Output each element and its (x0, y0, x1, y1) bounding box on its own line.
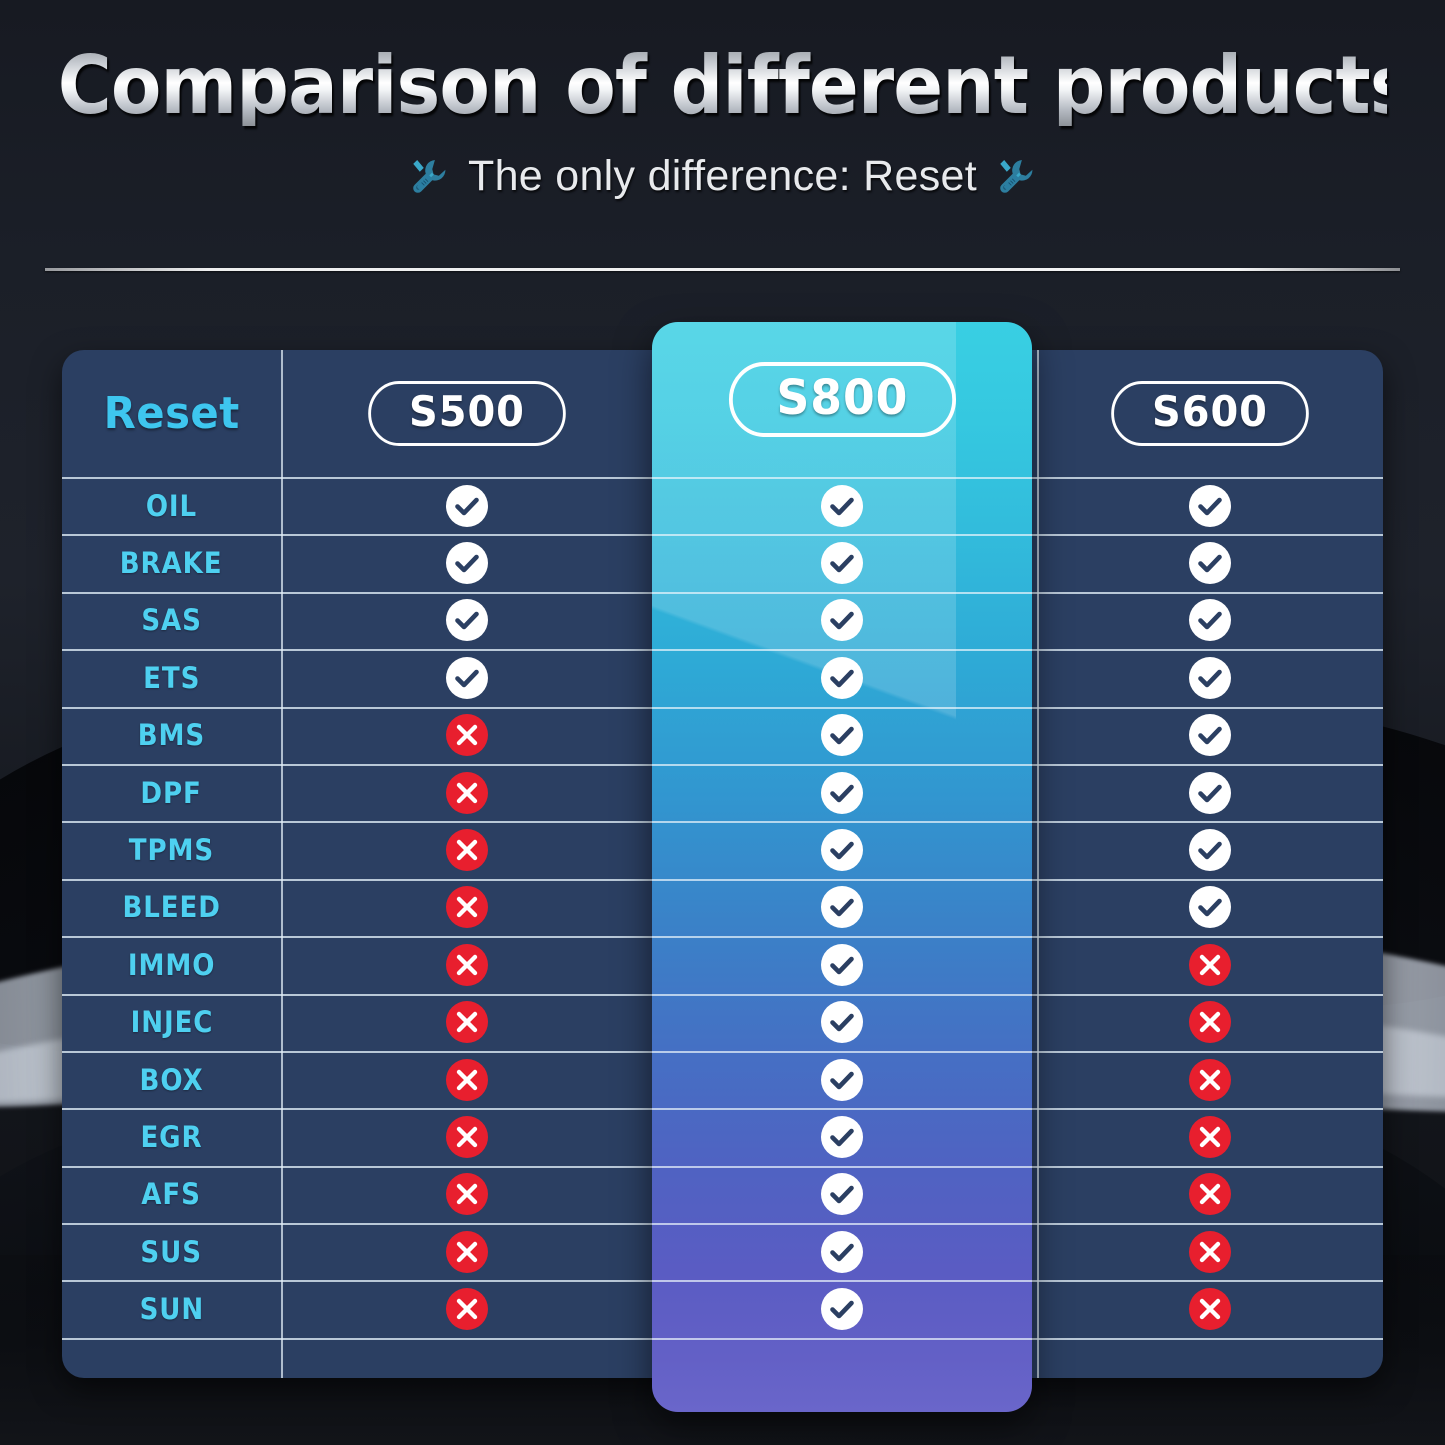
cell-s500-sun (281, 1280, 653, 1337)
table-row: BRAKE (62, 534, 281, 591)
row-label-sas: SAS (141, 603, 201, 637)
page-subtitle-text: The only difference: Reset (468, 152, 977, 201)
check-icon (820, 1230, 864, 1274)
cell-s500-injec (281, 994, 653, 1051)
reset-header-label: Reset (103, 388, 239, 439)
product-badge-s800: S800 (729, 362, 956, 437)
cell-s500-immo (281, 936, 653, 993)
table-row: AFS (62, 1166, 281, 1223)
check-icon (820, 541, 864, 585)
cell-s600-bleed (1037, 879, 1383, 936)
product-badge-s500: S500 (368, 381, 566, 446)
check-icon (820, 484, 864, 528)
header-divider (45, 268, 1400, 271)
cell-s500-oil (281, 477, 653, 534)
check-icon (1188, 656, 1232, 700)
cell-s600-sus (1037, 1223, 1383, 1280)
cell-s500-bms (281, 707, 653, 764)
highlight-footer-strip (652, 1338, 1032, 1412)
cell-s800-tpms (652, 821, 1032, 878)
cross-icon (1188, 1058, 1232, 1102)
row-label-sus: SUS (141, 1235, 202, 1269)
check-icon (1188, 484, 1232, 528)
cell-s500-afs (281, 1166, 653, 1223)
table-row: TPMS (62, 821, 281, 878)
cell-s500-ets (281, 649, 653, 706)
check-icon (820, 1287, 864, 1331)
check-icon (1188, 713, 1232, 757)
column-header-s500[interactable]: S500 (281, 350, 653, 477)
cell-s800-afs (652, 1166, 1032, 1223)
cell-s500-sus (281, 1223, 653, 1280)
cross-icon (445, 1287, 489, 1331)
row-label-bms: BMS (138, 718, 205, 752)
row-label-oil: OIL (146, 489, 197, 523)
table-row: BLEED (62, 879, 281, 936)
cell-s500-tpms (281, 821, 653, 878)
table-row: DPF (62, 764, 281, 821)
row-label-afs: AFS (142, 1177, 202, 1211)
highlighted-column-s800[interactable]: S800 (652, 322, 1032, 1412)
cell-s800-brake (652, 534, 1032, 591)
check-icon (1188, 541, 1232, 585)
check-icon (1188, 885, 1232, 929)
tools-icon (408, 156, 450, 198)
page-header: Comparison of different products (0, 0, 1445, 201)
table-row: BOX (62, 1051, 281, 1108)
page-title: Comparison of different products (58, 46, 1387, 126)
table-row: IMMO (62, 936, 281, 993)
table-row: BMS (62, 707, 281, 764)
cell-s600-immo (1037, 936, 1383, 993)
check-icon (820, 943, 864, 987)
cell-s800-box (652, 1051, 1032, 1108)
highlighted-column-grid: S800 (652, 322, 1032, 1412)
check-icon (820, 771, 864, 815)
row-label-dpf: DPF (141, 776, 202, 810)
table-row: INJEC (62, 994, 281, 1051)
cross-icon (445, 1058, 489, 1102)
cell-s600-injec (1037, 994, 1383, 1051)
product-badge-s600: S600 (1111, 381, 1309, 446)
cross-icon (1188, 1000, 1232, 1044)
check-icon (820, 1000, 864, 1044)
check-icon (820, 713, 864, 757)
check-icon (1188, 771, 1232, 815)
check-icon (1188, 598, 1232, 642)
check-icon (820, 598, 864, 642)
cell-s600-brake (1037, 534, 1383, 591)
table-footer-strip (1037, 1338, 1383, 1378)
cross-icon (1188, 1287, 1232, 1331)
cell-s600-oil (1037, 477, 1383, 534)
table-row: OIL (62, 477, 281, 534)
check-icon (820, 656, 864, 700)
table-row: SUS (62, 1223, 281, 1280)
cell-s800-bms (652, 707, 1032, 764)
cell-s600-ets (1037, 649, 1383, 706)
cell-s500-egr (281, 1108, 653, 1165)
table-row: EGR (62, 1108, 281, 1165)
cross-icon (445, 1172, 489, 1216)
check-icon (820, 1115, 864, 1159)
page-subtitle-row: The only difference: Reset (0, 152, 1445, 201)
cell-s500-box (281, 1051, 653, 1108)
table-row: ETS (62, 649, 281, 706)
table-footer-strip (62, 1338, 281, 1378)
check-icon (445, 484, 489, 528)
cross-icon (1188, 1230, 1232, 1274)
check-icon (820, 1172, 864, 1216)
check-icon (820, 1058, 864, 1102)
cell-s800-immo (652, 936, 1032, 993)
cell-s600-bms (1037, 707, 1383, 764)
cross-icon (1188, 1172, 1232, 1216)
comparison-infographic: Comparison of different products (0, 0, 1445, 1445)
cell-s600-sun (1037, 1280, 1383, 1337)
check-icon (1188, 828, 1232, 872)
row-label-ets: ETS (143, 661, 200, 695)
table-row: SUN (62, 1280, 281, 1337)
cross-icon (445, 885, 489, 929)
cell-s800-ets (652, 649, 1032, 706)
table-row: SAS (62, 592, 281, 649)
tools-icon (995, 156, 1037, 198)
cell-s800-sas (652, 592, 1032, 649)
row-label-box: BOX (140, 1063, 204, 1097)
table-corner-header: Reset (62, 350, 281, 477)
cell-s800-egr (652, 1108, 1032, 1165)
cell-s500-dpf (281, 764, 653, 821)
row-label-injec: INJEC (130, 1005, 213, 1039)
cross-icon (1188, 1115, 1232, 1159)
cell-s600-tpms (1037, 821, 1383, 878)
cell-s800-sus (652, 1223, 1032, 1280)
table-footer-strip (281, 1338, 653, 1378)
cross-icon (445, 1000, 489, 1044)
row-label-tpms: TPMS (129, 833, 214, 867)
cell-s800-oil (652, 477, 1032, 534)
check-icon (445, 656, 489, 700)
cross-icon (445, 1230, 489, 1274)
check-icon (445, 598, 489, 642)
column-header-s600[interactable]: S600 (1037, 350, 1383, 477)
cross-icon (1188, 943, 1232, 987)
cross-icon (445, 943, 489, 987)
check-icon (445, 541, 489, 585)
cross-icon (445, 713, 489, 757)
cell-s800-bleed (652, 879, 1032, 936)
cell-s600-sas (1037, 592, 1383, 649)
cell-s800-dpf (652, 764, 1032, 821)
cell-s600-afs (1037, 1166, 1383, 1223)
check-icon (820, 885, 864, 929)
cell-s500-brake (281, 534, 653, 591)
cell-s600-dpf (1037, 764, 1383, 821)
cell-s600-box (1037, 1051, 1383, 1108)
cell-s500-sas (281, 592, 653, 649)
cell-s500-bleed (281, 879, 653, 936)
row-label-bleed: BLEED (122, 890, 220, 924)
cross-icon (445, 828, 489, 872)
row-label-immo: IMMO (128, 948, 215, 982)
cell-s800-injec (652, 994, 1032, 1051)
cross-icon (445, 1115, 489, 1159)
row-label-sun: SUN (139, 1292, 204, 1326)
cell-s800-sun (652, 1280, 1032, 1337)
row-label-brake: BRAKE (120, 546, 223, 580)
cell-s600-egr (1037, 1108, 1383, 1165)
row-label-egr: EGR (140, 1120, 202, 1154)
check-icon (820, 828, 864, 872)
cross-icon (445, 771, 489, 815)
column-header-s800[interactable]: S800 (652, 322, 1032, 477)
